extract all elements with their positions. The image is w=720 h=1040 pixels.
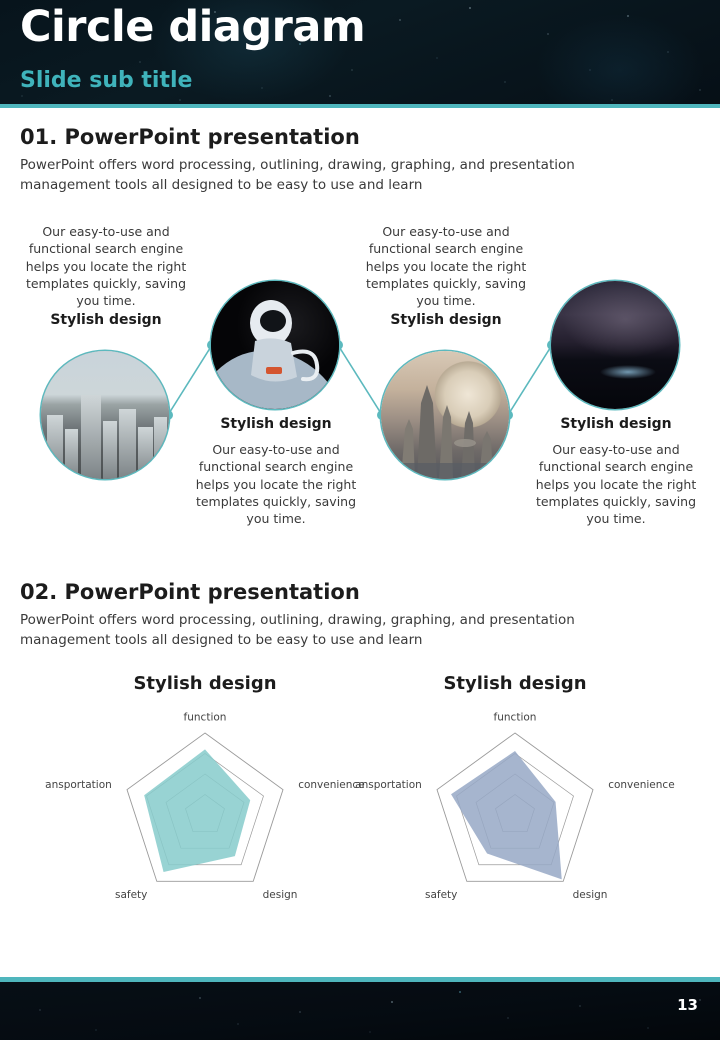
slide-footer: 13: [0, 982, 720, 1040]
page-number: 13: [677, 996, 698, 1014]
node-2-image[interactable]: [211, 281, 339, 409]
node-2-text: Our easy-to-use and functional search en…: [188, 441, 364, 527]
circle-diagram: Our easy-to-use and functional search en…: [0, 205, 720, 545]
section-02-body: PowerPoint offers word processing, outli…: [20, 611, 620, 650]
section-01-title: 01. PowerPoint presentation: [20, 127, 360, 148]
radar-axis-label: transportation: [355, 779, 422, 791]
radar-axis-label: safety: [115, 889, 147, 901]
slide: Circle diagram Slide sub title 01. Power…: [0, 0, 720, 1040]
horizon-glow: [600, 365, 656, 379]
page-subtitle: Slide sub title: [20, 70, 192, 92]
node-3-text: Our easy-to-use and functional search en…: [358, 223, 534, 309]
milky-way-night-photo: [551, 281, 679, 409]
radar-chart-2: Stylish design functionconveniencedesign…: [355, 655, 675, 935]
astronaut-photo: [211, 281, 339, 409]
radar-chart-2-title: Stylish design: [355, 673, 675, 694]
section-02-title: 02. PowerPoint presentation: [20, 582, 360, 603]
radar-chart-1-title: Stylish design: [45, 673, 365, 694]
radar-chart-1-plot: functionconveniencedesignsafetytransport…: [45, 707, 365, 927]
city-skyline-photo: [41, 351, 169, 479]
radar-chart-1: Stylish design functionconveniencedesign…: [45, 655, 365, 935]
radar-axis-label: function: [184, 712, 227, 724]
page-title: Circle diagram: [20, 6, 365, 49]
radar-axis-label: convenience: [608, 779, 674, 791]
radar-chart-2-plot: functionconveniencedesignsafetytransport…: [355, 707, 675, 927]
node-4-image[interactable]: [551, 281, 679, 409]
node-3-caption: Stylish design: [358, 313, 534, 327]
radar-axis-label: function: [494, 712, 537, 724]
node-1-text: Our easy-to-use and functional search en…: [18, 223, 194, 309]
radar-data-polygon: [451, 751, 562, 879]
node-4-caption: Stylish design: [528, 417, 704, 431]
slide-header: Circle diagram Slide sub title: [0, 0, 720, 108]
future-city-moon-photo: [381, 351, 509, 479]
node-2-caption: Stylish design: [188, 417, 364, 431]
radar-axis-label: design: [263, 889, 298, 901]
node-1-image[interactable]: [41, 351, 169, 479]
header-accent-bar: [0, 104, 720, 108]
section-01-body: PowerPoint offers word processing, outli…: [20, 156, 620, 195]
radar-axis-label: transportation: [45, 779, 112, 791]
node-3-image[interactable]: [381, 351, 509, 479]
radar-data-polygon: [144, 749, 250, 872]
node-1-caption: Stylish design: [18, 313, 194, 327]
radar-axis-label: safety: [425, 889, 457, 901]
node-4-text: Our easy-to-use and functional search en…: [528, 441, 704, 527]
radar-axis-label: design: [573, 889, 608, 901]
